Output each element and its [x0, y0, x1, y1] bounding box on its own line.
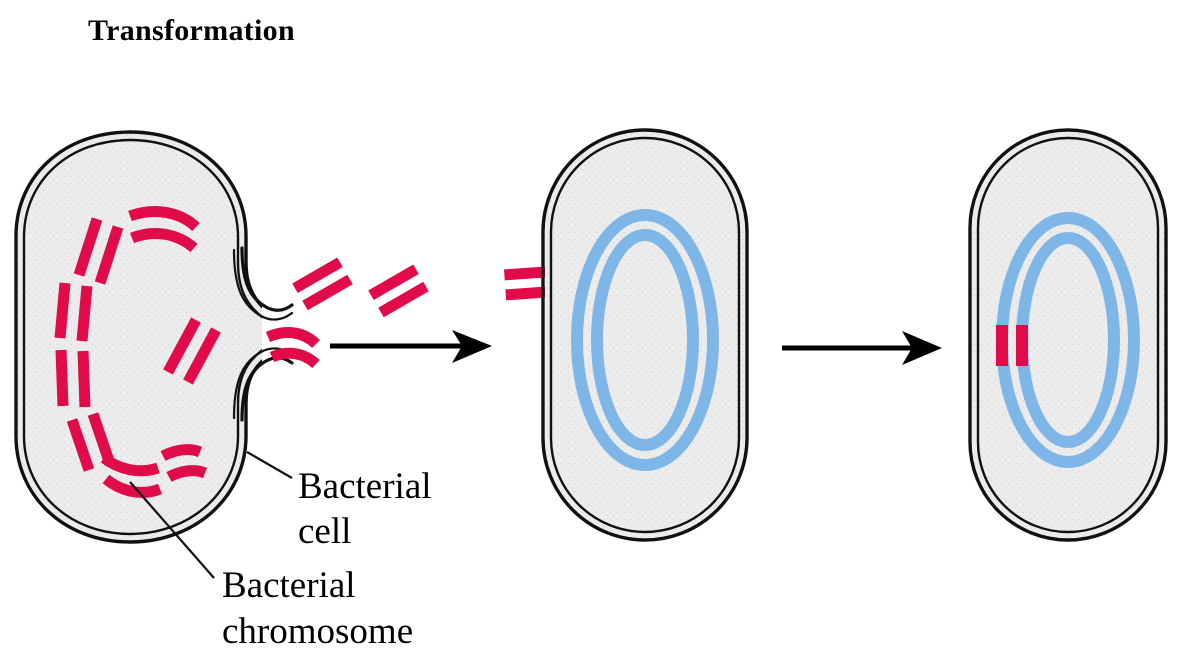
- recipient-cell: [543, 130, 747, 540]
- label-bacterial-chromosome-line-2: chromosome: [222, 611, 413, 652]
- label-bacterial-cell-line-2: cell: [298, 511, 351, 552]
- page-title: Transformation: [88, 14, 295, 47]
- transformed-cell: [970, 130, 1166, 540]
- label-bacterial-cell-line-1: Bacterial: [298, 466, 432, 507]
- label-bacterial-chromosome-line-1: Bacterial: [222, 565, 356, 606]
- diagram-canvas: Transformation: [0, 0, 1200, 658]
